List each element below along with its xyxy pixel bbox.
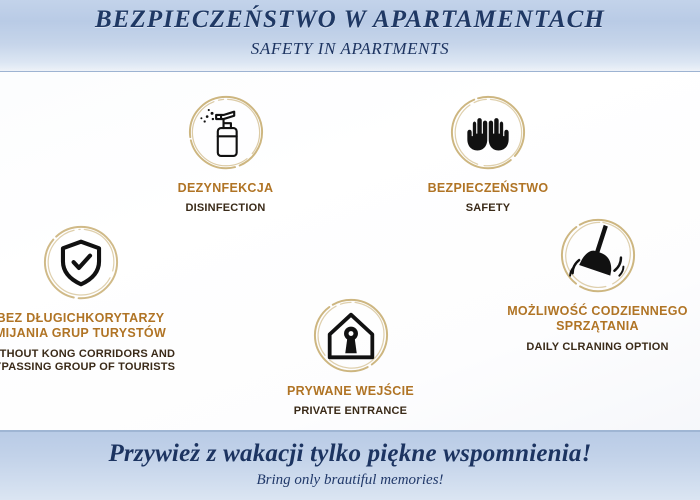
poster-footer: Przywież z wakacji tylko piękne wspomnie… bbox=[0, 430, 700, 500]
spray-bottle-icon bbox=[185, 92, 267, 174]
feature-label-pl-line2: SPRZĄTANIA bbox=[556, 319, 639, 333]
header-title-pl: BEZPIECZEŃSTWO W APARTAMENTACH bbox=[0, 0, 700, 34]
feature-private-entrance: PRYWANE WEJŚCIE PRIVATE ENTRANCE bbox=[253, 295, 448, 419]
feature-safety: BEZPIECZEŃSTWO SAFETY bbox=[383, 92, 593, 216]
feature-label-en: WITHOUT KONG CORRIDORS AND BYPASSING GRO… bbox=[0, 348, 193, 376]
shield-check-icon bbox=[40, 222, 122, 304]
feature-label-en-line2: BYPASSING GROUP OF TOURISTS bbox=[0, 361, 175, 373]
poster-header: BEZPIECZEŃSTWO W APARTAMENTACH SAFETY IN… bbox=[0, 0, 700, 72]
feature-label-pl-line1: MOŻLIWOŚĆ CODZIENNEGO bbox=[507, 304, 688, 318]
feature-label-pl: DEZYNFEKCJA bbox=[128, 181, 323, 196]
feature-label-en: SAFETY bbox=[383, 202, 593, 216]
feature-label-en: DAILY CLRANING OPTION bbox=[495, 341, 700, 355]
house-keyhole-icon bbox=[310, 295, 392, 377]
feature-label-en: PRIVATE ENTRANCE bbox=[253, 405, 448, 419]
feature-disinfection: DEZYNFEKCJA DISINFECTION bbox=[128, 92, 323, 216]
footer-title-en: Bring only brautiful memories! bbox=[0, 468, 700, 489]
feature-label-en-line1: WITHOUT KONG CORRIDORS AND bbox=[0, 348, 175, 360]
open-hands-icon bbox=[447, 92, 529, 174]
feature-corridors: BEZ DŁUGICHKORYTARZY MIJANIA GRUP TURYST… bbox=[0, 222, 193, 375]
feature-label-pl: BEZ DŁUGICHKORYTARZY MIJANIA GRUP TURYST… bbox=[0, 311, 193, 342]
safety-poster: BEZPIECZEŃSTWO W APARTAMENTACH SAFETY IN… bbox=[0, 0, 700, 500]
feature-daily-cleaning: MOŻLIWOŚĆ CODZIENNEGO SPRZĄTANIA DAILY C… bbox=[495, 215, 700, 354]
feature-label-pl-line1: BEZ DŁUGICHKORYTARZY bbox=[0, 311, 164, 325]
feature-label-pl: PRYWANE WEJŚCIE bbox=[253, 384, 448, 399]
feature-label-pl-line2: MIJANIA GRUP TURYSTÓW bbox=[0, 326, 166, 340]
feature-label-pl: BEZPIECZEŃSTWO bbox=[383, 181, 593, 196]
feature-label-pl: MOŻLIWOŚĆ CODZIENNEGO SPRZĄTANIA bbox=[495, 304, 700, 335]
feature-label-en: DISINFECTION bbox=[128, 202, 323, 216]
header-title-en: SAFETY IN APARTMENTS bbox=[0, 34, 700, 59]
footer-title-pl: Przywież z wakacji tylko piękne wspomnie… bbox=[0, 432, 700, 468]
broom-icon bbox=[557, 215, 639, 297]
